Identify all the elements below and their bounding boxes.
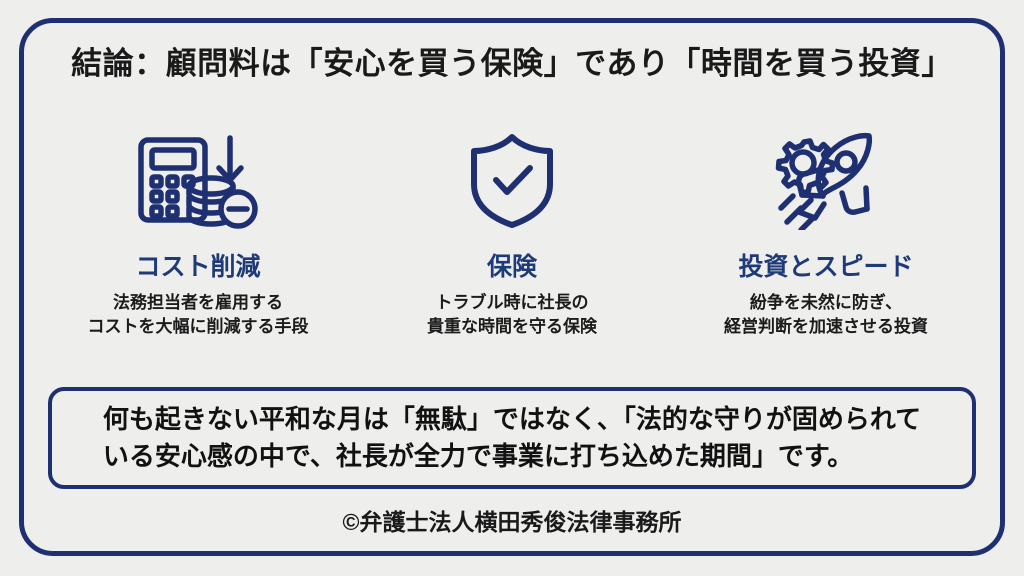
feature-heading: 保険 xyxy=(487,254,537,282)
calculator-cost-down-icon xyxy=(134,128,262,232)
feature-column-investment: 投資とスピード 紛争を未然に防ぎ、 経営判断を加速させる投資 xyxy=(676,128,976,340)
callout-text: 何も起きない平和な月は「無駄」ではなく、「法的な守りが固められて いる安心感の中… xyxy=(87,401,937,475)
feature-body: トラブル時に社長の 貴重な時間を守る保険 xyxy=(427,291,597,340)
feature-body: 法務担当者を雇用する コストを大幅に削減する手段 xyxy=(88,291,309,340)
slide-canvas: 結論：顧問料は「安心を買う保険」であり「時間を買う投資」 xyxy=(0,0,1024,576)
feature-column-insurance: 保険 トラブル時に社長の 貴重な時間を守る保険 xyxy=(362,128,662,340)
copyright-footer: ©弁護士法人横田秀俊法律事務所 xyxy=(0,503,1024,537)
page-title: 結論：顧問料は「安心を買う保険」であり「時間を買う投資」 xyxy=(0,45,1024,84)
feature-column-cost: コスト削減 法務担当者を雇用する コストを大幅に削減する手段 xyxy=(48,128,348,340)
feature-heading: コスト削減 xyxy=(135,254,260,282)
feature-heading: 投資とスピード xyxy=(738,254,913,282)
callout-box: 何も起きない平和な月は「無駄」ではなく、「法的な守りが固められて いる安心感の中… xyxy=(48,387,976,489)
shield-check-icon xyxy=(464,128,560,232)
feature-body: 紛争を未然に防ぎ、 経営判断を加速させる投資 xyxy=(724,291,928,340)
rocket-gear-icon xyxy=(770,128,882,232)
feature-columns: コスト削減 法務担当者を雇用する コストを大幅に削減する手段 保険 トラブル時に… xyxy=(48,128,976,363)
